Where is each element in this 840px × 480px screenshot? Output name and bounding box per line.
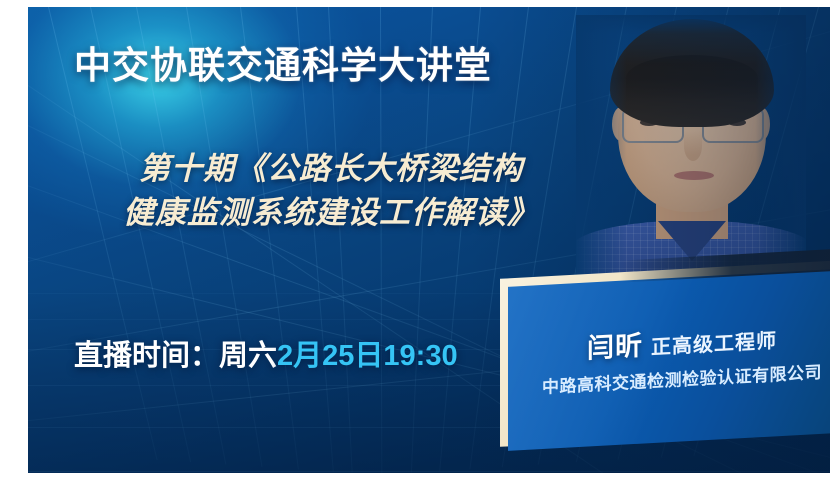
speaker-name: 闫昕 <box>587 331 643 364</box>
live-time-value: 2月25日19:30 <box>277 340 458 372</box>
live-time-weekday: 周六 <box>219 340 277 372</box>
episode-subtitle: 第十期《公路长大桥梁结构 健康监测系统建设工作解读》 <box>76 147 586 235</box>
poster-banner: 中交协联交通科学大讲堂 第十期《公路长大桥梁结构 健康监测系统建设工作解读》 直… <box>28 7 830 473</box>
speaker-portrait-photo <box>576 15 806 285</box>
episode-subtitle-line1: 第十期《公路长大桥梁结构 <box>76 147 586 191</box>
speaker-info-panel: 闫昕正高级工程师 中路高科交通检测检验认证有限公司 <box>500 265 830 445</box>
portrait-edge-fade <box>576 15 806 285</box>
poster-root: 中交协联交通科学大讲堂 第十期《公路长大桥梁结构 健康监测系统建设工作解读》 直… <box>0 0 840 480</box>
panel-text-group: 闫昕正高级工程师 中路高科交通检测检验认证有限公司 <box>508 267 830 451</box>
speaker-role: 正高级工程师 <box>651 330 777 359</box>
live-time-label: 直播时间： <box>74 340 219 372</box>
page-title: 中交协联交通科学大讲堂 <box>74 35 492 89</box>
live-time-row: 直播时间：周六2月25日19:30 <box>74 332 458 374</box>
episode-subtitle-line2: 健康监测系统建设工作解读》 <box>76 191 586 235</box>
